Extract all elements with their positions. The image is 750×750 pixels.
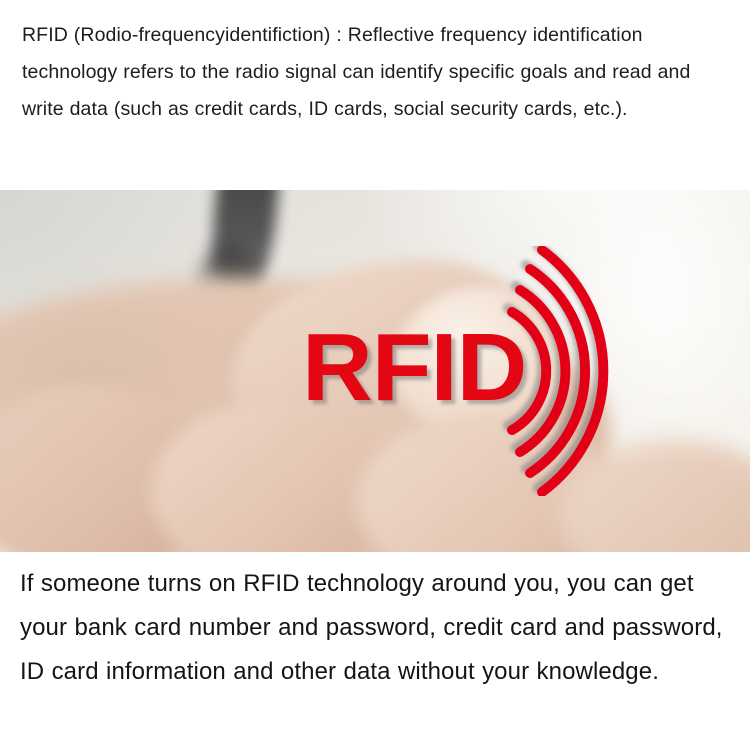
bottom-description-text: If someone turns on RFID technology arou… [20, 562, 736, 694]
top-description-block: RFID (Rodio-frequencyidentifiction) : Re… [0, 0, 750, 190]
top-description-text: RFID (Rodio-frequencyidentifiction) : Re… [22, 17, 736, 128]
rfid-hand-photo: RFID [0, 190, 750, 552]
bottom-description-block: If someone turns on RFID technology arou… [0, 552, 750, 750]
product-description-page: RFID (Rodio-frequencyidentifiction) : Re… [0, 0, 750, 750]
